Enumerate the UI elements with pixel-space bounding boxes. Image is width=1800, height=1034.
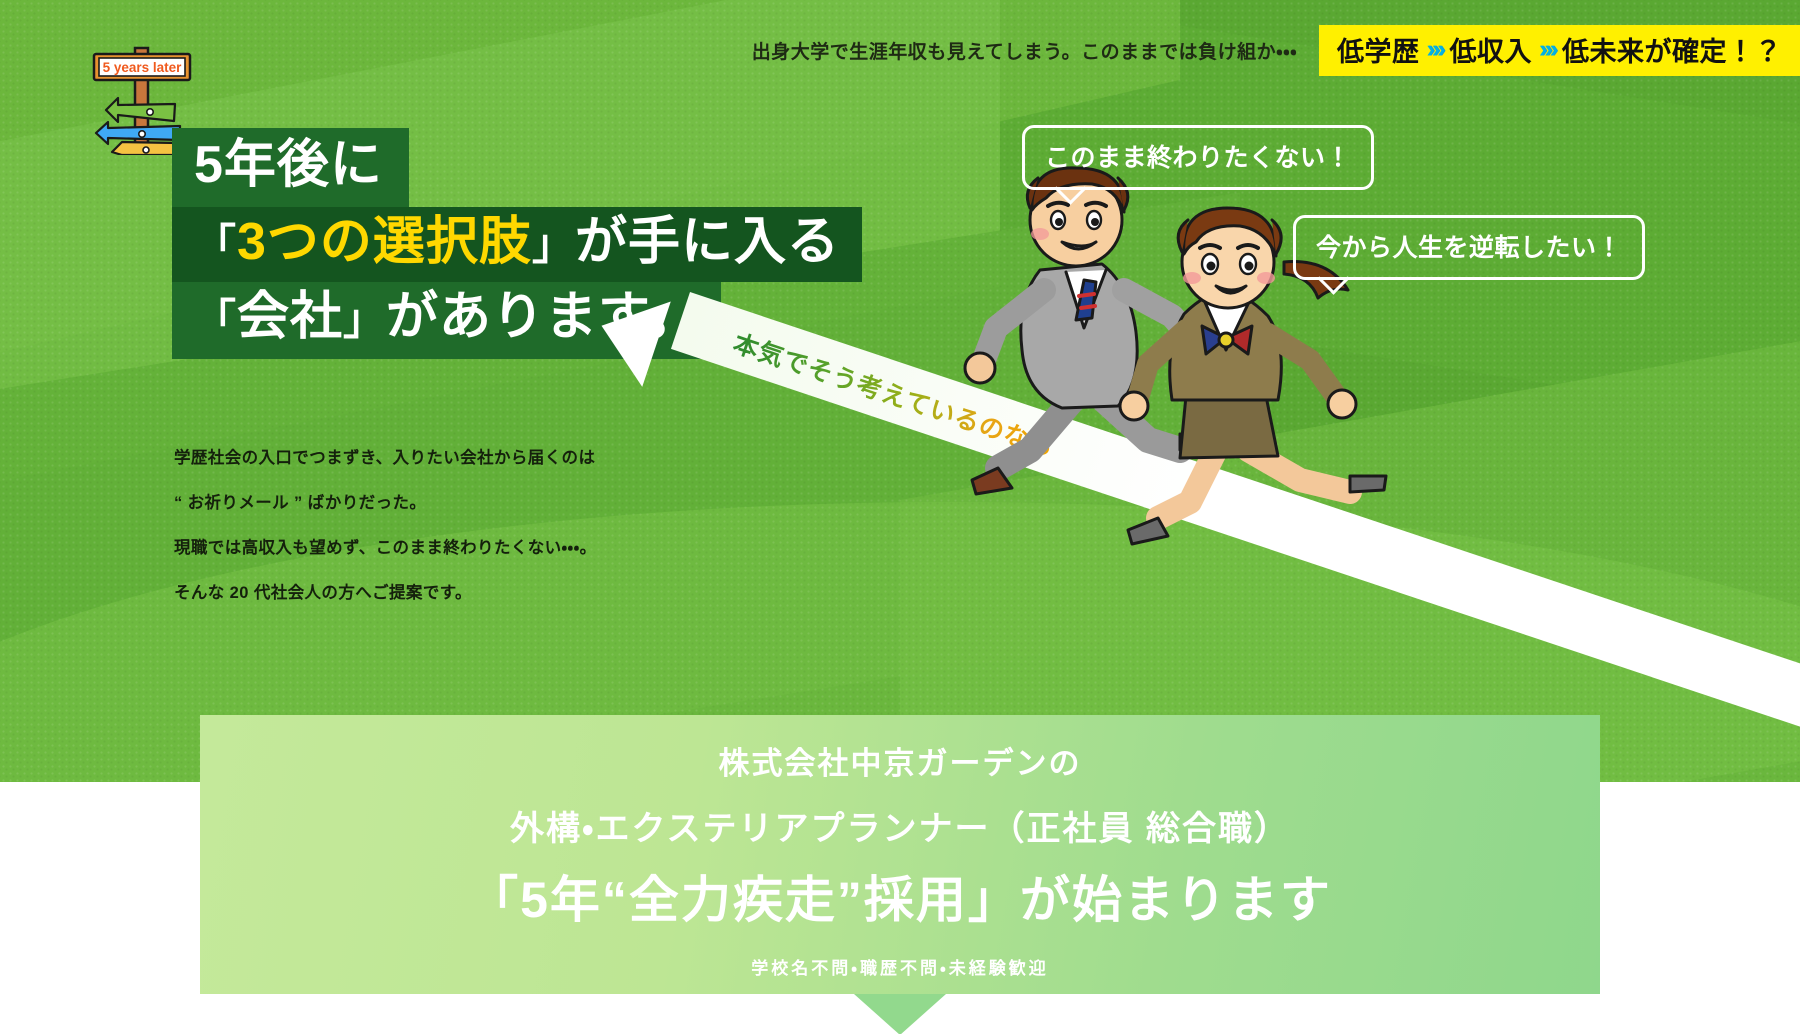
headline-row-2: 「3つの選択肢」が手に入る [172,207,862,283]
chevron-right-icon: ››› [1427,35,1443,64]
body-line-4: そんな 20 代社会人の方へご提案です。 [174,571,794,616]
badge-text-1: 低学歴 [1337,30,1420,69]
banner-down-arrow-icon [854,994,946,1034]
speech-bubble-1-text: このまま終わりたくない！ [1045,144,1351,172]
top-banner: 出身大学で生涯年収も見えてしまう。このままでは負け組か・・・ 低学歴 ››› 低… [0,28,1800,72]
speech-bubble-2: 今から人生を逆転したい！ [1293,215,1645,280]
banner-role-line: 外構・エクステリアプランナー（正社員 総合職） [200,783,1600,850]
headline-quote-close: 」 [532,221,575,268]
speech-bubble-1: このまま終わりたくない！ [1022,125,1374,190]
headline-quote-close-2: 」 [343,296,386,343]
banner-company-line: 株式会社中京ガーデンの [200,715,1600,783]
headline-quote-open-2: 「 [194,296,237,343]
headline-line-1: 5年後に [172,128,409,207]
chevron-right-icon-2: ››› [1539,35,1555,64]
body-line-1: 学歴社会の入口でつまずき、入りたい会社から届くのは [174,436,794,481]
headline-line-2: 「3つの選択肢」が手に入る [172,207,862,283]
top-banner-lead: 出身大学で生涯年収も見えてしまう。このままでは負け組か・・・ [752,37,1297,64]
headline-row-1: 5年後に [172,128,862,207]
hero-body-text: 学歴社会の入口でつまずき、入りたい会社から届くのは “ お祈りメール ” ばかり… [174,436,794,616]
badge-text-3: 低未来が確定！？ [1562,30,1782,69]
top-banner-badge: 低学歴 ››› 低収入 ››› 低未来が確定！？ [1319,25,1800,76]
headline-line-2-tail: が手に入る [575,213,840,271]
banner-main-line: 「5年“全力疾走”採用」が始まります [200,850,1600,932]
svg-text:5 years later: 5 years later [103,60,183,75]
signpost-board: 5 years later [94,54,190,80]
arrow-yellow-icon [112,142,177,155]
speech-bubble-2-text: 今から人生を逆転したい！ [1316,234,1622,262]
banner-sub-line: 学校名不問・職歴不問・未経験歓迎 [200,932,1600,979]
bottom-banner: 株式会社中京ガーデンの 外構・エクステリアプランナー（正社員 総合職） 「5年“… [200,715,1600,994]
headline-line-3-main: 会社 [237,288,343,346]
running-characters-illustration [880,150,1500,570]
body-line-2: “ お祈りメール ” ばかりだった。 [174,481,794,526]
page-root: 出身大学で生涯年収も見えてしまう。このままでは負け組か・・・ 低学歴 ››› 低… [0,0,1800,1034]
headline-quote-open: 「 [194,221,237,268]
body-line-3: 現職では高収入も望めず、このまま終わりたくない・・・。 [174,526,794,571]
headline-accent: 3つの選択肢 [237,213,532,271]
badge-text-2: 低収入 [1450,30,1533,69]
